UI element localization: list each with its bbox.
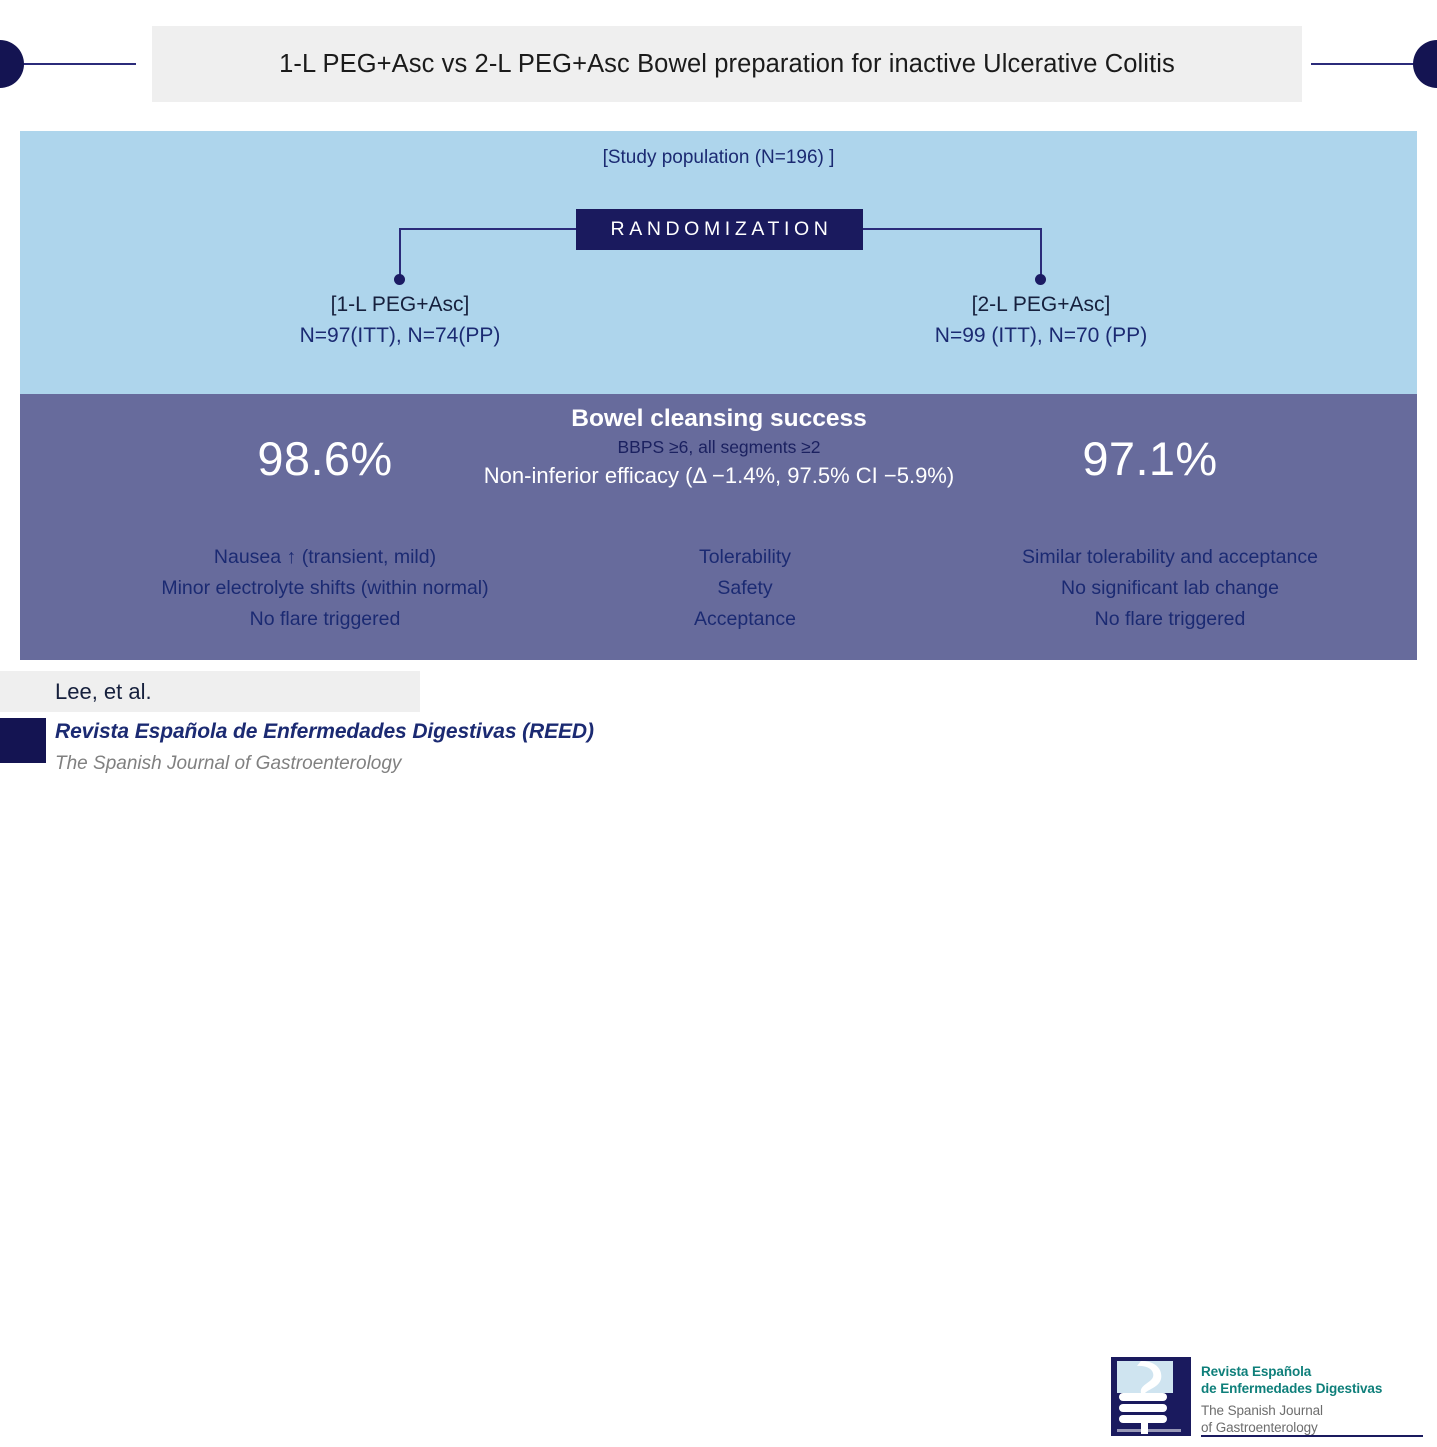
secondary-outcome-item: Nausea ↑ (transient, mild) xyxy=(75,542,575,573)
primary-outcome-criteria: BBPS ≥6, all segments ≥2 xyxy=(369,435,1069,460)
results-band: 98.6% 97.1% Bowel cleansing success BBPS… xyxy=(20,394,1417,660)
study-arm-1l-sample-size: N=97(ITT), N=74(PP) xyxy=(190,320,610,352)
primary-outcome-title: Bowel cleansing success xyxy=(369,403,1069,435)
journal-name: Revista Española de Enfermedades Digesti… xyxy=(55,720,594,744)
secondary-outcomes-2l: Similar tolerability and acceptance No s… xyxy=(920,542,1420,635)
randomization-endpoint-dot-right xyxy=(1035,274,1046,285)
study-arm-2l-name: [2-L PEG+Asc] xyxy=(831,290,1251,320)
reed-logo-line-4: of Gastroenterology xyxy=(1201,1419,1382,1436)
randomization-connector-left-vertical xyxy=(399,228,401,278)
secondary-outcome-category: Acceptance xyxy=(620,604,870,635)
reed-journal-logo: Revista Española de Enfermedades Digesti… xyxy=(1111,1357,1426,1447)
digestive-tract-icon xyxy=(1111,1357,1191,1436)
secondary-outcome-item: No flare triggered xyxy=(920,604,1420,635)
study-design-band: [Study population (N=196) ] RANDOMIZATIO… xyxy=(20,131,1417,394)
study-arm-1l-name: [1-L PEG+Asc] xyxy=(190,290,610,320)
randomization-connector-right-horizontal xyxy=(862,228,1042,230)
randomization-box: RANDOMIZATION xyxy=(576,209,863,250)
reed-logo-line-1: Revista Española xyxy=(1201,1363,1382,1380)
page-title: 1-L PEG+Asc vs 2-L PEG+Asc Bowel prepara… xyxy=(279,50,1175,79)
title-band: 1-L PEG+Asc vs 2-L PEG+Asc Bowel prepara… xyxy=(152,26,1302,102)
journal-subtitle: The Spanish Journal of Gastroenterology xyxy=(55,753,401,775)
study-arm-2l-sample-size: N=99 (ITT), N=70 (PP) xyxy=(831,320,1251,352)
footer-accent-square xyxy=(0,718,46,763)
secondary-outcome-item: No flare triggered xyxy=(75,604,575,635)
reed-logo-line-3: The Spanish Journal xyxy=(1201,1402,1382,1419)
randomization-label: RANDOMIZATION xyxy=(607,218,833,241)
reed-logo-text: Revista Española de Enfermedades Digesti… xyxy=(1201,1363,1382,1436)
primary-outcome-conclusion: Non-inferior efficacy (Δ −1.4%, 97.5% CI… xyxy=(369,460,1069,491)
footer: Lee, et al. Revista Española de Enfermed… xyxy=(0,660,1437,807)
title-decoration-line-left xyxy=(18,63,136,65)
secondary-outcome-item: Minor electrolyte shifts (within normal) xyxy=(75,573,575,604)
author-citation: Lee, et al. xyxy=(0,679,152,705)
reed-logo-rule xyxy=(1201,1435,1423,1437)
secondary-outcome-category: Safety xyxy=(620,573,870,604)
secondary-outcome-category: Tolerability xyxy=(620,542,870,573)
title-bar: 1-L PEG+Asc vs 2-L PEG+Asc Bowel prepara… xyxy=(0,26,1437,102)
randomization-connector-right-vertical xyxy=(1040,228,1042,278)
title-decoration-line-right xyxy=(1311,63,1421,65)
study-population-label: [Study population (N=196) ] xyxy=(20,147,1417,169)
randomization-connector-left-horizontal xyxy=(399,228,577,230)
secondary-outcome-item: Similar tolerability and acceptance xyxy=(920,542,1420,573)
title-decoration-dot-left xyxy=(0,40,24,88)
study-arm-2l: [2-L PEG+Asc] N=99 (ITT), N=70 (PP) xyxy=(831,290,1251,352)
secondary-outcome-item: No significant lab change xyxy=(920,573,1420,604)
randomization-endpoint-dot-left xyxy=(394,274,405,285)
secondary-outcomes-1l: Nausea ↑ (transient, mild) Minor electro… xyxy=(75,542,575,635)
author-band: Lee, et al. xyxy=(0,671,420,712)
study-arm-1l: [1-L PEG+Asc] N=97(ITT), N=74(PP) xyxy=(190,290,610,352)
primary-outcome-block: Bowel cleansing success BBPS ≥6, all seg… xyxy=(369,403,1069,491)
reed-logo-line-2: de Enfermedades Digestivas xyxy=(1201,1380,1382,1397)
title-decoration-dot-right xyxy=(1413,40,1437,88)
secondary-outcome-categories: Tolerability Safety Acceptance xyxy=(620,542,870,635)
